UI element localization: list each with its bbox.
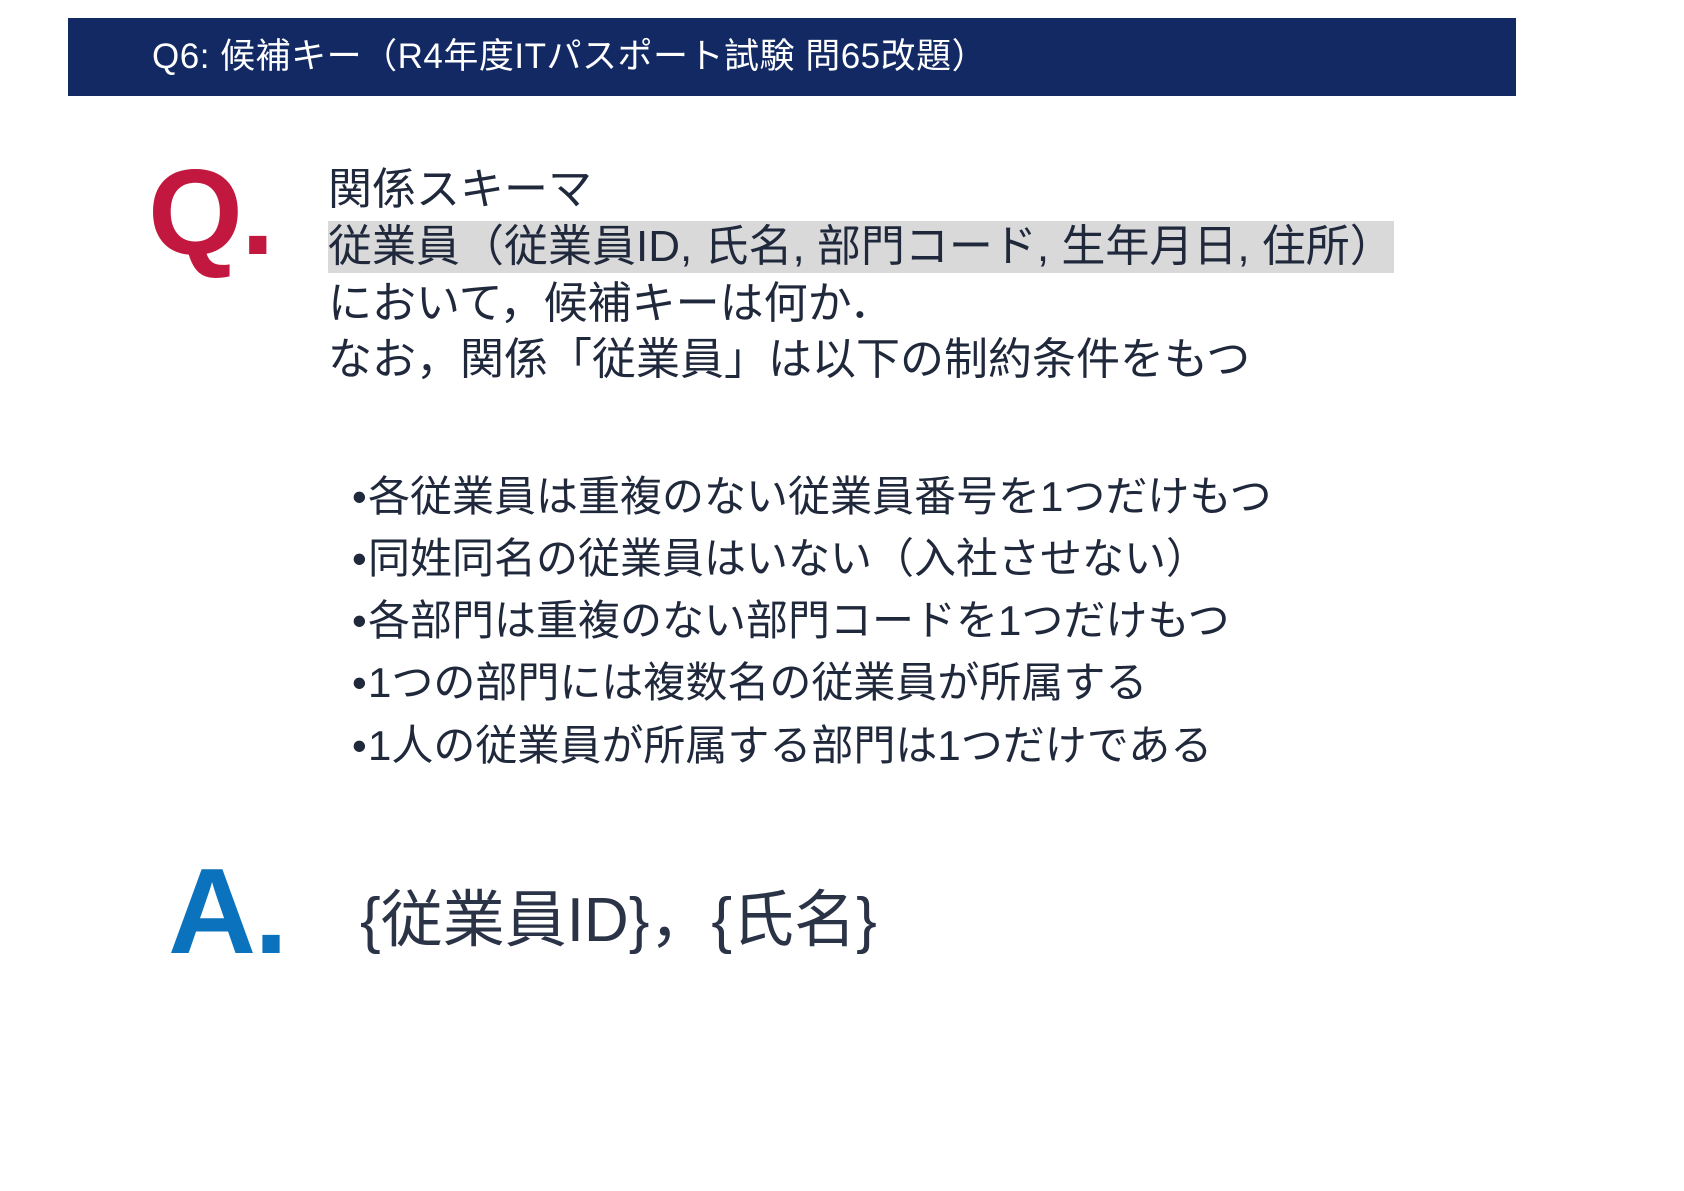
bullet-icon: • — [352, 528, 368, 590]
answer-text: {従業員ID}，{氏名} — [360, 887, 877, 955]
constraints-list: •各従業員は重複のない従業員番号を1つだけもつ •同姓同名の従業員はいない（入社… — [352, 466, 1602, 777]
slide-header-bar: Q6: 候補キー（R4年度ITパスポート試験 問65改題） — [68, 18, 1516, 96]
schema-highlight: 従業員（従業員ID, 氏名, 部門コード, 生年月日, 住所） — [328, 221, 1394, 273]
list-item-label: 1つの部門には複数名の従業員が所属する — [368, 659, 1147, 706]
list-item: •1人の従業員が所属する部門は1つだけである — [352, 715, 1602, 777]
question-marker: Q. — [148, 156, 273, 268]
question-line-2: 従業員（従業員ID, 氏名, 部門コード, 生年月日, 住所） — [328, 219, 1568, 276]
list-item: •1つの部門には複数名の従業員が所属する — [352, 652, 1602, 714]
question-text: 関係スキーマ 従業員（従業員ID, 氏名, 部門コード, 生年月日, 住所） に… — [328, 162, 1568, 389]
list-item: •各部門は重複のない部門コードを1つだけもつ — [352, 590, 1602, 652]
list-item: •各従業員は重複のない従業員番号を1つだけもつ — [352, 466, 1602, 528]
answer-marker: A. — [168, 855, 286, 967]
bullet-icon: • — [352, 652, 368, 714]
bullet-icon: • — [352, 590, 368, 652]
question-line-3: において，候補キーは何か． — [328, 276, 1568, 333]
list-item: •同姓同名の従業員はいない（入社させない） — [352, 528, 1602, 590]
list-item-label: 同姓同名の従業員はいない（入社させない） — [368, 535, 1208, 582]
list-item-label: 1人の従業員が所属する部門は1つだけである — [368, 722, 1212, 769]
question-line-4: なお，関係「従業員」は以下の制約条件をもつ — [328, 332, 1568, 389]
page-title: Q6: 候補キー（R4年度ITパスポート試験 問65改題） — [152, 38, 987, 77]
bullet-icon: • — [352, 466, 368, 528]
list-item-label: 各部門は重複のない部門コードを1つだけもつ — [368, 597, 1230, 644]
bullet-icon: • — [352, 715, 368, 777]
list-item-label: 各従業員は重複のない従業員番号を1つだけもつ — [368, 473, 1272, 520]
question-line-1: 関係スキーマ — [328, 162, 1568, 219]
